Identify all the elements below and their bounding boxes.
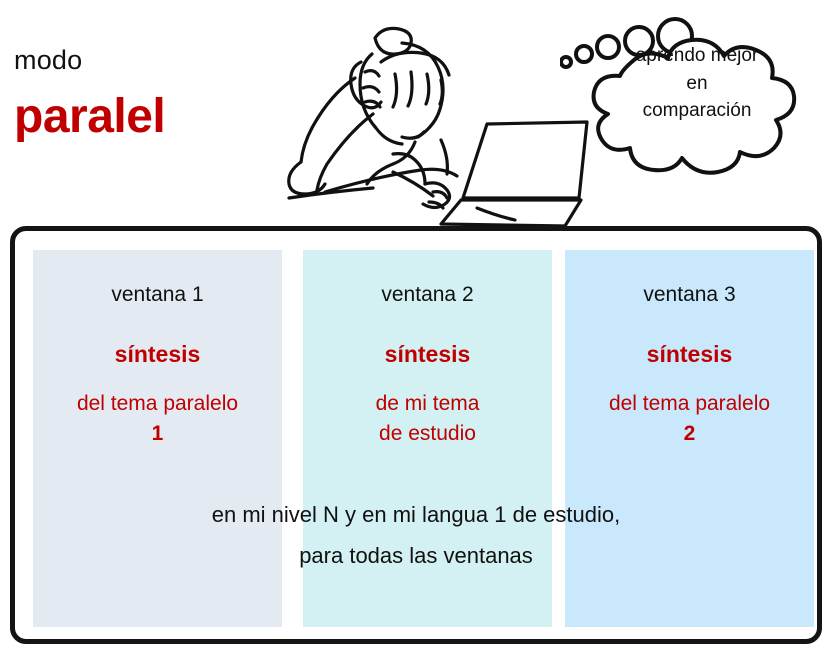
synthesis-detail-3-line-1: del tema paralelo	[565, 389, 814, 419]
thought-bubble-text: aprendo mejor en comparación	[586, 42, 808, 125]
synthesis-detail-3-line-2: 2	[565, 419, 814, 449]
header-area: modo paralel	[0, 0, 834, 226]
mode-label: modo	[14, 47, 82, 74]
window-label-1: ventana 1	[33, 283, 282, 307]
synthesis-heading-2: síntesis	[303, 341, 552, 368]
synthesis-detail-1: del tema paralelo 1	[33, 389, 282, 450]
window-label-2: ventana 2	[303, 283, 552, 307]
synthesis-detail-2-line-1: de mi tema	[303, 389, 552, 419]
synthesis-heading-3: síntesis	[565, 341, 814, 368]
person-studying-at-laptop-icon	[265, 2, 595, 226]
synthesis-detail-3: del tema paralelo 2	[565, 389, 814, 450]
thought-bubble-line-1: aprendo mejor	[586, 42, 808, 70]
synthesis-detail-1-line-1: del tema paralelo	[33, 389, 282, 419]
mode-title: paralel	[14, 93, 165, 141]
thought-bubble-line-3: comparación	[586, 97, 808, 125]
synthesis-detail-2: de mi tema de estudio	[303, 389, 552, 450]
window-column-2[interactable]: ventana 2 síntesis de mi tema de estudio	[303, 250, 552, 627]
window-column-1[interactable]: ventana 1 síntesis del tema paralelo 1	[33, 250, 282, 627]
windows-panel: ventana 1 síntesis del tema paralelo 1 v…	[10, 226, 822, 644]
window-column-3[interactable]: ventana 3 síntesis del tema paralelo 2	[565, 250, 814, 627]
thought-bubble-line-2: en	[586, 70, 808, 98]
synthesis-detail-1-line-2: 1	[33, 419, 282, 449]
synthesis-detail-2-line-2: de estudio	[303, 419, 552, 449]
synthesis-heading-1: síntesis	[33, 341, 282, 368]
window-label-3: ventana 3	[565, 283, 814, 307]
